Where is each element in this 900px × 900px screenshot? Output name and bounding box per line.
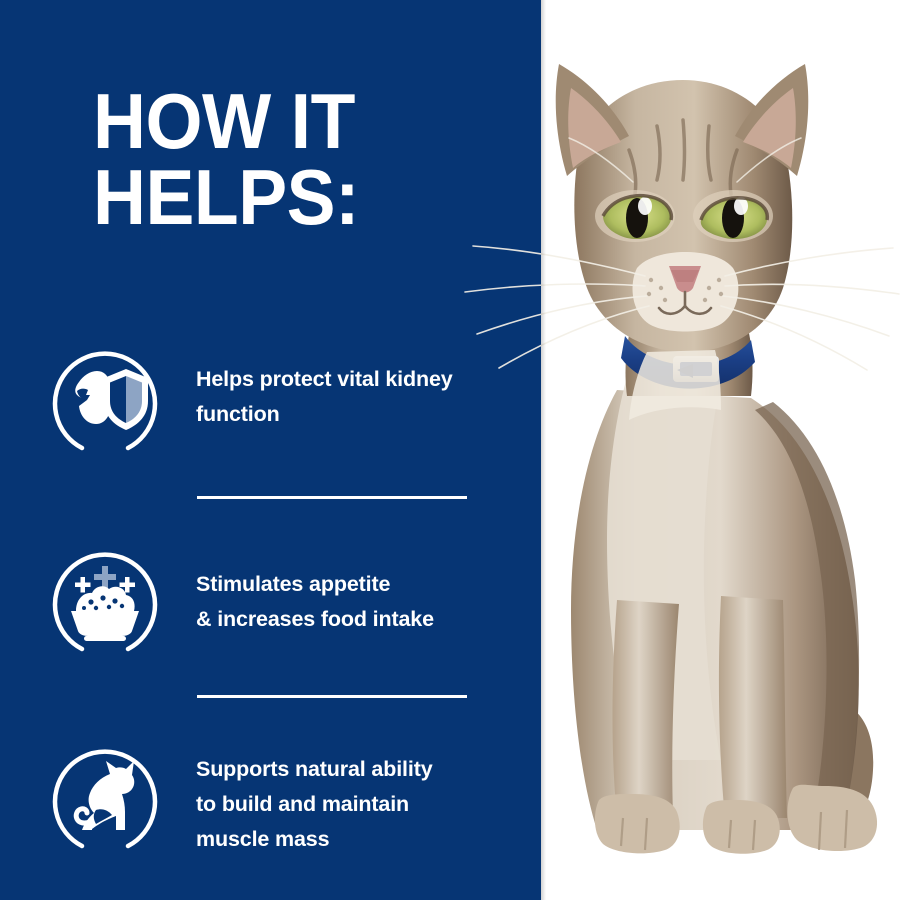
promo-card: HOW IT HELPS:	[0, 0, 900, 900]
kidney-shield-icon	[46, 338, 164, 456]
benefit-text-kidney: Helps protect vital kidney function	[196, 338, 453, 432]
sitting-abyssinian-cat-photo	[421, 0, 900, 900]
sitting-cat-icon	[46, 736, 164, 854]
food-bowl-sparkle-icon	[46, 539, 164, 657]
cat-photo-area	[541, 0, 900, 900]
benefit-text-muscle: Supports natural ability to build and ma…	[196, 736, 433, 856]
benefit-text-appetite: Stimulates appetite & increases food int…	[196, 539, 434, 637]
